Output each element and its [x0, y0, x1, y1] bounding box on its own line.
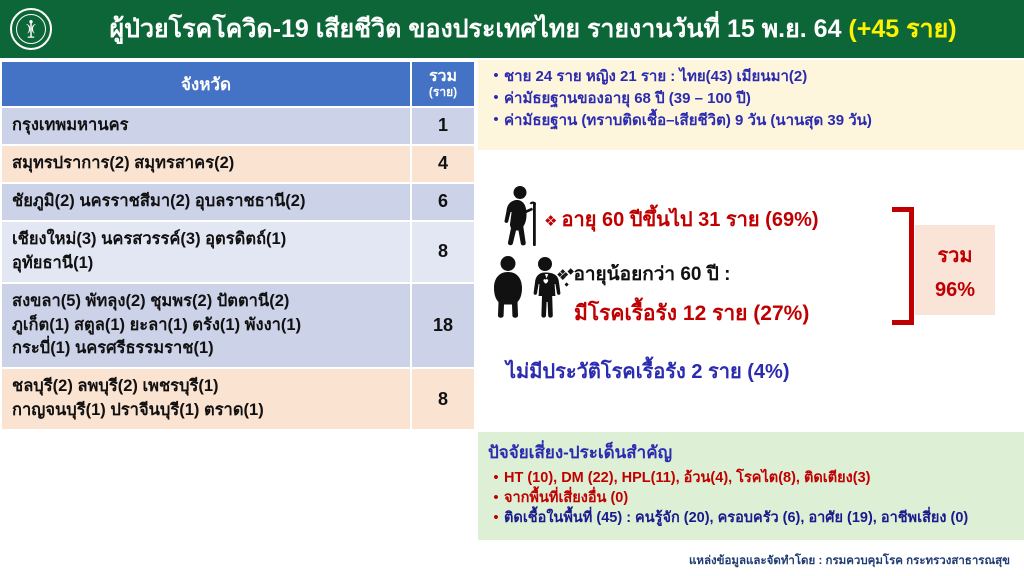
list-item: • HT (10), DM (22), HPL(11), อ้วน(4), โร… — [488, 469, 1016, 487]
combined-total-label: รวม — [937, 239, 972, 271]
bullet-dot-icon: • — [488, 509, 504, 527]
cell-total-count: 8 — [411, 368, 475, 430]
summary-bullets-panel: • ชาย 24 ราย หญิง 21 ราย : ไทย(43) เมียน… — [478, 60, 1024, 150]
bullet-dot-icon: • — [488, 489, 504, 507]
column-header-total-label: รวม — [429, 68, 457, 85]
diamond-bullet-icon: ❖ — [544, 213, 561, 230]
stat-under-60-label: ❖อายุน้อยกว่า 60 ปี : — [556, 259, 730, 289]
cell-province-list: เชียงใหม่(3) นครสวรรค์(3) อุตรดิตถ์(1)อุ… — [1, 221, 411, 283]
risk-factors-panel: ปัจจัยเสี่ยง-ประเด็นสำคัญ • HT (10), DM … — [478, 432, 1024, 540]
seal-inner-ring — [16, 14, 46, 44]
table-row: สงขลา(5) พัทลุง(2) ชุมพร(2) ปัตตานี(2)ภู… — [1, 283, 475, 369]
risk-factors-title: ปัจจัยเสี่ยง-ประเด็นสำคัญ — [488, 439, 1016, 466]
table-row: เชียงใหม่(3) นครสวรรค์(3) อุตรดิตถ์(1)อุ… — [1, 221, 475, 283]
elderly-person-with-cane-icon — [496, 185, 550, 249]
column-header-total: รวม (ราย) — [411, 61, 475, 107]
stat-chronic-disease: มีโรคเรื้อรัง 12 ราย (27%) — [574, 297, 809, 330]
summary-bullet-sex-nationality: ชาย 24 ราย หญิง 21 ราย : ไทย(43) เมียนมา… — [504, 68, 807, 86]
ministry-of-public-health-seal-icon — [10, 8, 52, 50]
logo-container — [0, 0, 62, 58]
risk-factor-local-transmission: ติดเชื้อในพื้นที่ (45) : คนรู้จัก (20), … — [504, 509, 968, 527]
list-item: • ชาย 24 ราย หญิง 21 ราย : ไทย(43) เมียน… — [488, 68, 1018, 86]
table-header-row: จังหวัด รวม (ราย) — [1, 61, 475, 107]
table-row: สมุทรปราการ(2) สมุทรสาคร(2)4 — [1, 145, 475, 183]
cell-province-list: ชลบุรี(2) ลพบุรี(2) เพชรบุรี(1)กาญจนบุรี… — [1, 368, 411, 430]
age-breakdown-panel: ❖อายุ 60 ปีขึ้นไป 31 ราย (69%) ❖อายุน้อย… — [478, 155, 1024, 425]
stat-under-60-label-text: อายุน้อยกว่า 60 ปี : — [573, 264, 730, 285]
bullet-dot-icon: • — [488, 90, 504, 107]
column-header-province: จังหวัด — [1, 61, 411, 107]
red-bracket-icon — [892, 207, 914, 325]
cell-province-list: สงขลา(5) พัทลุง(2) ชุมพร(2) ปัตตานี(2)ภู… — [1, 283, 411, 369]
province-death-table: จังหวัด รวม (ราย) กรุงเทพมหานคร1สมุทรปรา… — [0, 60, 476, 431]
table-row: ชัยภูมิ(2) นครราชสีมา(2) อุบลราชธานี(2)6 — [1, 183, 475, 221]
page-title-main: ผู้ป่วยโรคโควิด-19 เสียชีวิต ของประเทศไท… — [109, 15, 841, 43]
cell-total-count: 1 — [411, 107, 475, 145]
table-row: ชลบุรี(2) ลพบุรี(2) เพชรบุรี(1)กาญจนบุรี… — [1, 368, 475, 430]
cell-province-list: ชัยภูมิ(2) นครราชสีมา(2) อุบลราชธานี(2) — [1, 183, 411, 221]
list-item: • ค่ามัธยฐาน (ทราบติดเชื้อ–เสียชีวิต) 9 … — [488, 112, 1018, 130]
summary-bullet-median-days: ค่ามัธยฐาน (ทราบติดเชื้อ–เสียชีวิต) 9 วั… — [504, 112, 872, 130]
list-item: • ค่ามัธยฐานของอายุ 68 ปี (39 – 100 ปี) — [488, 90, 1018, 108]
cell-total-count: 6 — [411, 183, 475, 221]
footer-bar: แหล่งข้อมูลและจัดทำโดย : กรมควบคุมโรค กร… — [0, 548, 1024, 576]
new-deaths-delta: (+45 ราย) — [848, 15, 956, 43]
stat-no-chronic-history: ไม่มีประวัติโรคเรื้อรัง 2 ราย (4%) — [506, 355, 790, 387]
data-source-credit: แหล่งข้อมูลและจัดทำโดย : กรมควบคุมโรค กร… — [689, 552, 1010, 570]
page-title: ผู้ป่วยโรคโควิด-19 เสียชีวิต ของประเทศไท… — [62, 0, 1024, 58]
combined-total-box: รวม 96% — [915, 225, 995, 315]
risk-factor-other-area: จากพื้นที่เสี่ยงอื่น (0) — [504, 489, 628, 507]
risk-factor-comorbidities: HT (10), DM (22), HPL(11), อ้วน(4), โรคไ… — [504, 469, 870, 487]
list-item: • ติดเชื้อในพื้นที่ (45) : คนรู้จัก (20)… — [488, 509, 1016, 527]
summary-bullet-median-age: ค่ามัธยฐานของอายุ 68 ปี (39 – 100 ปี) — [504, 90, 751, 108]
cell-total-count: 4 — [411, 145, 475, 183]
table-body: กรุงเทพมหานคร1สมุทรปราการ(2) สมุทรสาคร(2… — [1, 107, 475, 430]
header-bar: ผู้ป่วยโรคโควิด-19 เสียชีวิต ของประเทศไท… — [0, 0, 1024, 58]
cell-total-count: 18 — [411, 283, 475, 369]
bullet-dot-icon: • — [488, 112, 504, 129]
province-table-container: จังหวัด รวม (ราย) กรุงเทพมหานคร1สมุทรปรา… — [0, 60, 474, 538]
table-row: กรุงเทพมหานคร1 — [1, 107, 475, 145]
cell-total-count: 8 — [411, 221, 475, 283]
slide-root: ผู้ป่วยโรคโควิด-19 เสียชีวิต ของประเทศไท… — [0, 0, 1024, 576]
diamond-bullet-icon: ❖ — [556, 267, 573, 284]
cell-province-list: กรุงเทพมหานคร — [1, 107, 411, 145]
combined-total-value: 96% — [935, 279, 975, 302]
stat-age-60-plus: ❖อายุ 60 ปีขึ้นไป 31 ราย (69%) — [544, 203, 819, 235]
cell-province-list: สมุทรปราการ(2) สมุทรสาคร(2) — [1, 145, 411, 183]
bullet-dot-icon: • — [488, 469, 504, 487]
stat-age-60-plus-text: อายุ 60 ปีขึ้นไป 31 ราย (69%) — [561, 209, 818, 231]
list-item: • จากพื้นที่เสี่ยงอื่น (0) — [488, 489, 1016, 507]
column-header-total-unit: (ราย) — [416, 86, 470, 100]
bullet-dot-icon: • — [488, 68, 504, 85]
